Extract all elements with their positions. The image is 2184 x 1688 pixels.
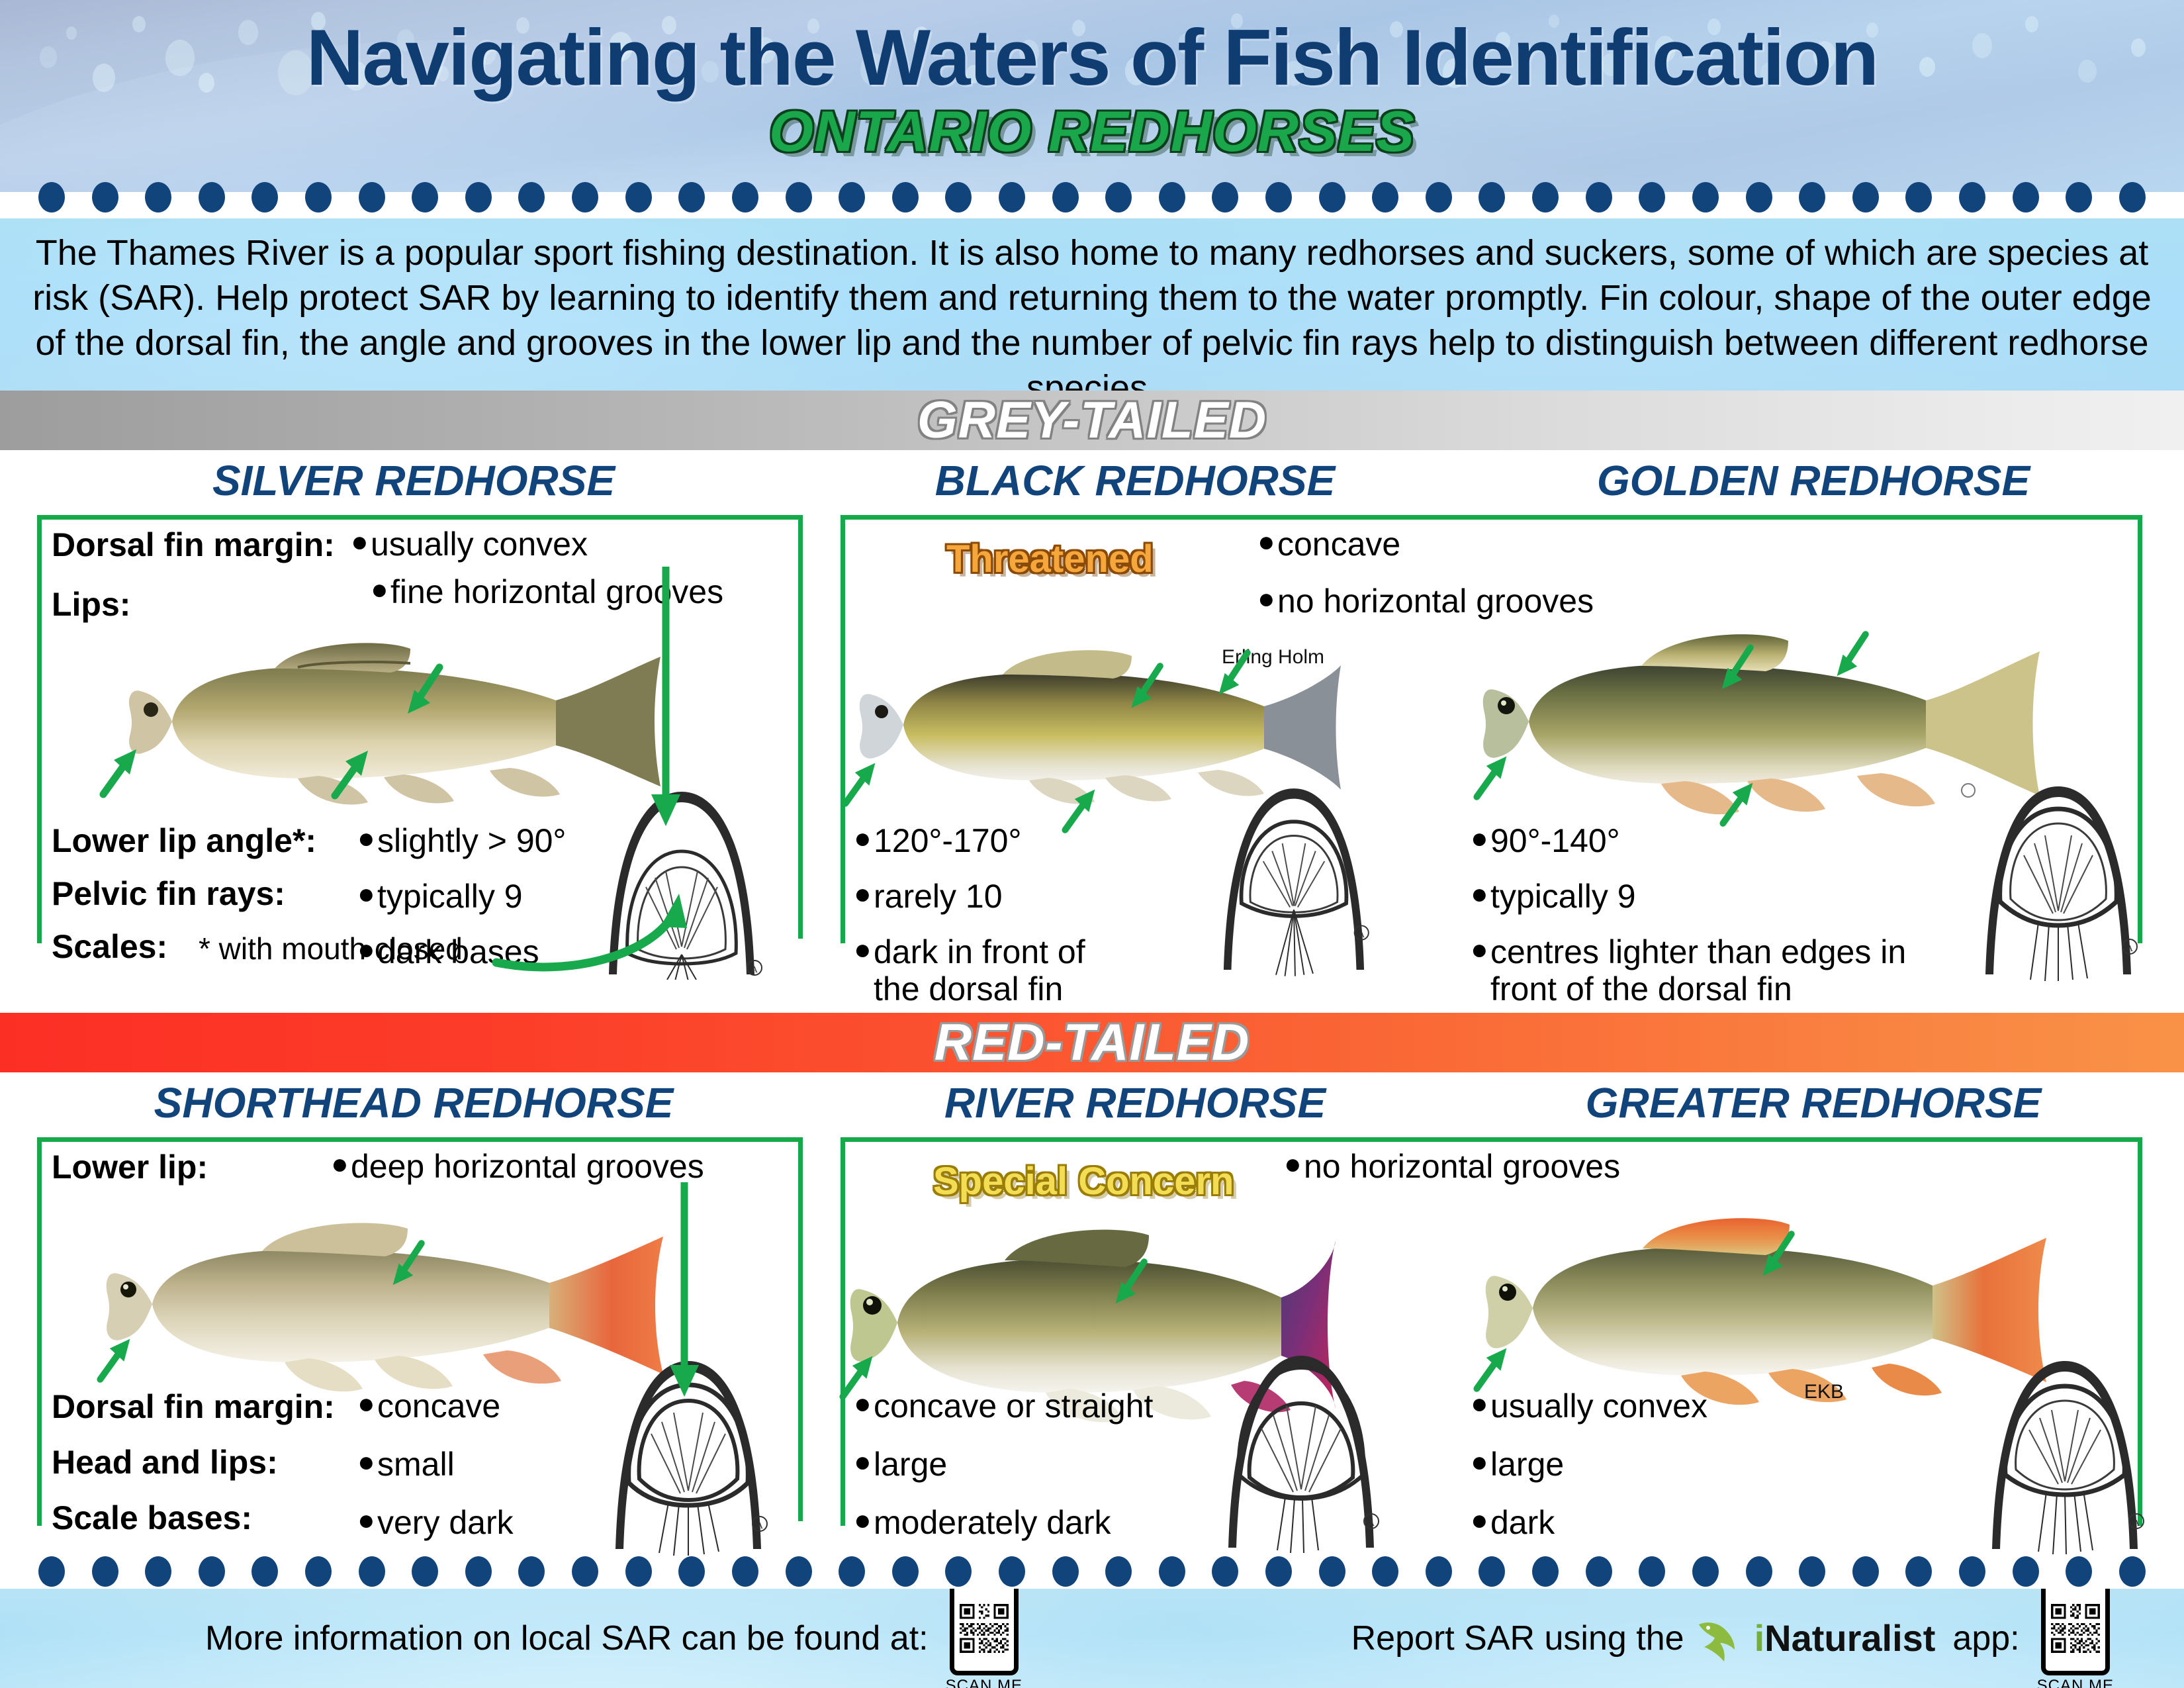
decorative-dot (1319, 1556, 1345, 1587)
decorative-dot (1639, 1556, 1665, 1587)
decorative-dot (678, 1556, 705, 1587)
svg-text:A: A (1368, 1519, 1375, 1528)
list-item: ●90°-140° (1471, 822, 1934, 859)
arrow-icon-dorsal-left (1117, 655, 1177, 715)
bullet-dot: ● (1471, 1387, 1490, 1421)
decorative-dot (999, 1556, 1025, 1587)
decorative-dot (1052, 182, 1079, 212)
decorative-dot (412, 182, 438, 212)
header-banner: Navigating the Waters of Fish Identifica… (0, 0, 2184, 192)
decorative-dot (465, 182, 492, 212)
decorative-dot (305, 182, 332, 212)
fish-photo-shorthead-redhorse (86, 1205, 668, 1403)
bullet-dot: ● (331, 1148, 351, 1182)
decorative-dot (1479, 182, 1505, 212)
list-item: ●rarely 10 (854, 878, 1138, 915)
bullet-dot: ● (854, 822, 874, 856)
bullets-bottom: ●90°-140° ●typically 9 ●centres lighter … (1471, 822, 1934, 1018)
decorative-dot (1799, 1556, 1825, 1587)
decorative-dot (892, 1556, 919, 1587)
species-card-shorthead-redhorse: SHORTHEAD REDHORSE Lower lip: ●deep hori… (0, 1079, 827, 1556)
mouth-diagram-golden: A (1966, 782, 2151, 981)
list-item: ●dark in front of the dorsal fin (854, 933, 1138, 1008)
decorative-dot (359, 1556, 385, 1587)
species-grid-grey-tailed: SILVER REDHORSE Dorsal fin margin: Lips:… (0, 457, 2184, 1013)
species-card-black-redhorse: BLACK REDHORSE Threatened ●concave ●no h… (827, 457, 1443, 1013)
arrow-icon-to-mouth-down (646, 567, 686, 831)
decorative-dot (945, 182, 972, 212)
decorative-dot (38, 182, 65, 212)
decorative-dot (572, 1556, 598, 1587)
decorative-dot (1052, 1556, 1079, 1587)
arrow-icon-dorsal (379, 1233, 438, 1292)
decorative-dot (1479, 1556, 1505, 1587)
decorative-dot (1639, 182, 1665, 212)
decorative-dot (839, 1556, 865, 1587)
list-item: ●typically 9 (1471, 878, 1934, 915)
label-scale-bases: Scale bases: (52, 1501, 335, 1534)
list-item: ●usually convex (351, 526, 774, 563)
arrow-icon-head (1461, 748, 1521, 808)
decorative-dot (2013, 182, 2039, 212)
bullet-dot: ● (357, 1387, 377, 1421)
footer-bar: More information on local SAR can be fou… (0, 1589, 2184, 1688)
bullets-bottom: ●concave or straight ●large ●moderately … (854, 1387, 1224, 1552)
decorative-dot (2119, 182, 2146, 212)
qr-pattern (958, 1589, 1011, 1667)
decorative-dot (945, 1556, 972, 1587)
bullets-bottom: ●120°-170° ●rarely 10 ●dark in front of … (854, 822, 1138, 1018)
label-head-and-lips: Head and lips: (52, 1446, 335, 1479)
decorative-dot (2066, 1556, 2092, 1587)
footnote-mouth-closed: * with mouth closed (199, 931, 463, 966)
decorative-dot (92, 182, 118, 212)
bullet-dot: ● (854, 1504, 874, 1538)
decorative-dot (38, 1556, 65, 1587)
decorative-dot (518, 182, 545, 212)
decorative-dot (1746, 182, 1772, 212)
decorative-dot (1426, 1556, 1452, 1587)
list-item: ●dark (1471, 1504, 1841, 1541)
species-name: SILVER REDHORSE (0, 459, 827, 502)
label-lips: Lips: (52, 588, 335, 621)
decorative-dot (1852, 1556, 1879, 1587)
decorative-dot (1852, 182, 1879, 212)
arrow-icon-lips (86, 740, 152, 806)
intro-paragraph: The Thames River is a popular sport fish… (0, 218, 2184, 391)
decorative-dot (2119, 1556, 2146, 1587)
list-item: ●moderately dark (854, 1504, 1224, 1541)
decorative-dot (92, 1556, 118, 1587)
bullet-dot: ● (1471, 1504, 1490, 1538)
svg-text:A: A (2126, 944, 2134, 954)
qr-code-image[interactable] (950, 1589, 1019, 1675)
bullet-dot: ● (854, 933, 874, 967)
decorative-dot (1372, 182, 1398, 212)
decorative-dot (1586, 182, 1612, 212)
infographic-poster: Navigating the Waters of Fish Identifica… (0, 0, 2184, 1688)
bullet-dot: ● (854, 1446, 874, 1479)
list-item: ●large (854, 1446, 1224, 1483)
decorative-dot (1746, 1556, 1772, 1587)
species-card-greater-redhorse: GREATER REDHORSE (1443, 1079, 2184, 1556)
arrow-icon-footnote-curve (490, 892, 695, 978)
decorative-dot (1905, 182, 1932, 212)
list-item: ●120°-170° (854, 822, 1138, 859)
bullet-dot: ● (854, 1387, 874, 1421)
decorative-dot (625, 1556, 652, 1587)
mouth-diagram-black: A (1205, 781, 1383, 980)
decorative-dot (145, 1556, 171, 1587)
arrow-icon-dorsal-right (1205, 642, 1264, 702)
footer-right-text-before: Report SAR using the (1351, 1618, 1684, 1658)
decorative-dot (251, 1556, 278, 1587)
decorative-dot (1532, 182, 1559, 212)
inaturalist-wordmark: iNaturalist (1754, 1620, 1936, 1657)
decorative-dot (1692, 182, 1719, 212)
decorative-dot (732, 182, 758, 212)
decorative-dot (199, 182, 225, 212)
bullet-dot: ● (351, 526, 371, 559)
qr-code-sar-info[interactable]: SCAN ME (946, 1589, 1023, 1688)
bullets-bottom: ●usually convex ●large ●dark (1471, 1387, 1841, 1552)
footer-right-text-after: app: (1952, 1618, 2019, 1658)
decorative-dot (1159, 1556, 1185, 1587)
page-title: Navigating the Waters of Fish Identifica… (0, 16, 2184, 99)
inat-rest: Naturalist (1764, 1617, 1935, 1659)
list-item: ●large (1471, 1446, 1841, 1483)
decorative-dot (732, 1556, 758, 1587)
bullet-dot: ● (1471, 878, 1490, 912)
species-name: RIVER REDHORSE (827, 1082, 1443, 1124)
dot-divider-bottom (0, 1554, 2184, 1589)
arrow-icon-pelvic (318, 741, 384, 808)
svg-text:A: A (1358, 929, 1365, 939)
svg-text:A: A (756, 1521, 764, 1531)
arrow-icon-dorsal (1101, 1251, 1161, 1311)
species-name: SHORTHEAD REDHORSE (0, 1082, 827, 1124)
footer-left-text: More information on local SAR can be fou… (205, 1618, 929, 1658)
inat-i: i (1754, 1617, 1765, 1659)
bullets-top: ●usually convex ●fine horizontal grooves (351, 526, 774, 621)
qr-code-image[interactable] (2041, 1589, 2110, 1675)
mouth-diagram-river: A (1208, 1356, 1394, 1554)
svg-text:A: A (751, 965, 758, 975)
arrow-icon-to-mouth-down (664, 1182, 704, 1401)
bullet-dot: ● (1471, 822, 1490, 856)
decorative-dot (1586, 1556, 1612, 1587)
decorative-dot (1212, 1556, 1238, 1587)
qr-caption: SCAN ME (946, 1677, 1023, 1688)
decorative-dot (1532, 1556, 1559, 1587)
arrow-icon-dorsal (1749, 1223, 1808, 1283)
bullet-dot: ● (854, 878, 874, 912)
decorative-dot (2066, 182, 2092, 212)
status-badge-threatened: Threatened (946, 540, 1154, 579)
decorative-dot (1159, 182, 1185, 212)
bullet-dot: ● (1471, 1446, 1490, 1479)
species-name: GREATER REDHORSE (1443, 1082, 2184, 1124)
arrow-icon-dorsal (392, 655, 458, 722)
decorative-dot (1212, 182, 1238, 212)
decorative-dot (786, 182, 812, 212)
species-name: GOLDEN REDHORSE (1443, 459, 2184, 502)
arrow-icon-dorsal-right (1823, 624, 1882, 683)
bullet-dot: ● (357, 1504, 377, 1538)
decorative-dot (199, 1556, 225, 1587)
decorative-dot (412, 1556, 438, 1587)
bullet-dot: ● (357, 878, 377, 912)
decorative-dot (1905, 1556, 1932, 1587)
decorative-dot (1799, 182, 1825, 212)
dot-divider-top (0, 180, 2184, 214)
decorative-dot (892, 182, 919, 212)
decorative-dot (2013, 1556, 2039, 1587)
fish-photo-silver-redhorse (99, 622, 668, 821)
decorative-dot (305, 1556, 332, 1587)
list-item: ●centres lighter than edges in front of … (1471, 933, 1934, 1008)
decorative-dot (1319, 182, 1345, 212)
list-item: ●usually convex (1471, 1387, 1841, 1425)
decorative-dot (1959, 182, 1985, 212)
label-lower-lip: Lower lip: (52, 1150, 208, 1184)
qr-code-inaturalist[interactable]: SCAN ME (2037, 1589, 2114, 1688)
label-lower-lip-angle: Lower lip angle*: (52, 824, 316, 857)
list-item: ●deep horizontal grooves (331, 1148, 794, 1185)
arrow-icon-head (85, 1331, 144, 1390)
decorative-dot (518, 1556, 545, 1587)
species-card-golden-redhorse: GOLDEN REDHORSE (1443, 457, 2184, 1013)
section-banner-grey-tailed: GREY-TAILED (0, 391, 2184, 450)
bullet-dot: ● (1257, 583, 1277, 616)
decorative-dot (678, 182, 705, 212)
decorative-dot (1372, 1556, 1398, 1587)
decorative-dot (1105, 1556, 1132, 1587)
section-banner-red-tailed: RED-TAILED (0, 1013, 2184, 1072)
status-badge-special-concern: Special Concern (933, 1162, 1234, 1201)
label-dorsal-fin-margin: Dorsal fin margin: (52, 1390, 335, 1423)
list-item: ●fine horizontal grooves (371, 573, 774, 610)
inaturalist-logo: iNaturalist (1694, 1613, 1936, 1664)
decorative-dot (1426, 182, 1452, 212)
bullet-dot: ● (1257, 526, 1277, 559)
arrow-icon-head (830, 755, 889, 814)
labels-bottom: Dorsal fin margin: Head and lips: Scale … (52, 1390, 335, 1534)
section-banner-label: GREY-TAILED (0, 389, 2184, 450)
list-item: ●concave or straight (854, 1387, 1224, 1425)
decorative-dot (251, 182, 278, 212)
bullet-dot: ● (357, 822, 377, 856)
species-card-river-redhorse: RIVER REDHORSE Special Concern ●no horiz… (827, 1079, 1443, 1556)
decorative-dot (1959, 1556, 1985, 1587)
decorative-dot (1105, 182, 1132, 212)
decorative-dot (1265, 1556, 1292, 1587)
bullet-dot: ● (1471, 933, 1490, 967)
species-name: BLACK REDHORSE (827, 459, 1443, 502)
page-subtitle: ONTARIO REDHORSES (0, 99, 2184, 165)
bullet-dot: ● (1284, 1148, 1304, 1182)
decorative-dot (1692, 1556, 1719, 1587)
decorative-dot (999, 182, 1025, 212)
bullet-dot: ● (371, 573, 390, 607)
mouth-diagram-greater: A (1972, 1357, 2158, 1556)
decorative-dot (839, 182, 865, 212)
decorative-dot (465, 1556, 492, 1587)
decorative-dot (625, 182, 652, 212)
species-card-silver-redhorse: SILVER REDHORSE Dorsal fin margin: Lips:… (0, 457, 827, 1013)
bird-icon (1694, 1613, 1754, 1664)
section-banner-label: RED-TAILED (0, 1011, 2184, 1072)
bullets-top: ●deep horizontal grooves (331, 1148, 794, 1196)
decorative-dot (1265, 182, 1292, 212)
species-grid-red-tailed: SHORTHEAD REDHORSE Lower lip: ●deep hori… (0, 1079, 2184, 1556)
qr-caption: SCAN ME (2037, 1677, 2114, 1688)
decorative-dot (786, 1556, 812, 1587)
decorative-dot (359, 182, 385, 212)
label-pelvic-fin-rays: Pelvic fin rays: (52, 877, 316, 910)
labels-top: Dorsal fin margin: Lips: (52, 528, 335, 621)
bullet-dot: ● (357, 1446, 377, 1479)
label-dorsal-fin-margin: Dorsal fin margin: (52, 528, 335, 561)
footer-content: More information on local SAR can be fou… (0, 1589, 2184, 1688)
intro-section: The Thames River is a popular sport fish… (0, 218, 2184, 391)
svg-text:A: A (2133, 1519, 2140, 1528)
qr-pattern (2049, 1589, 2102, 1667)
decorative-dot (572, 182, 598, 212)
arrow-icon-dorsal-left (1707, 637, 1767, 696)
decorative-dot (145, 182, 171, 212)
